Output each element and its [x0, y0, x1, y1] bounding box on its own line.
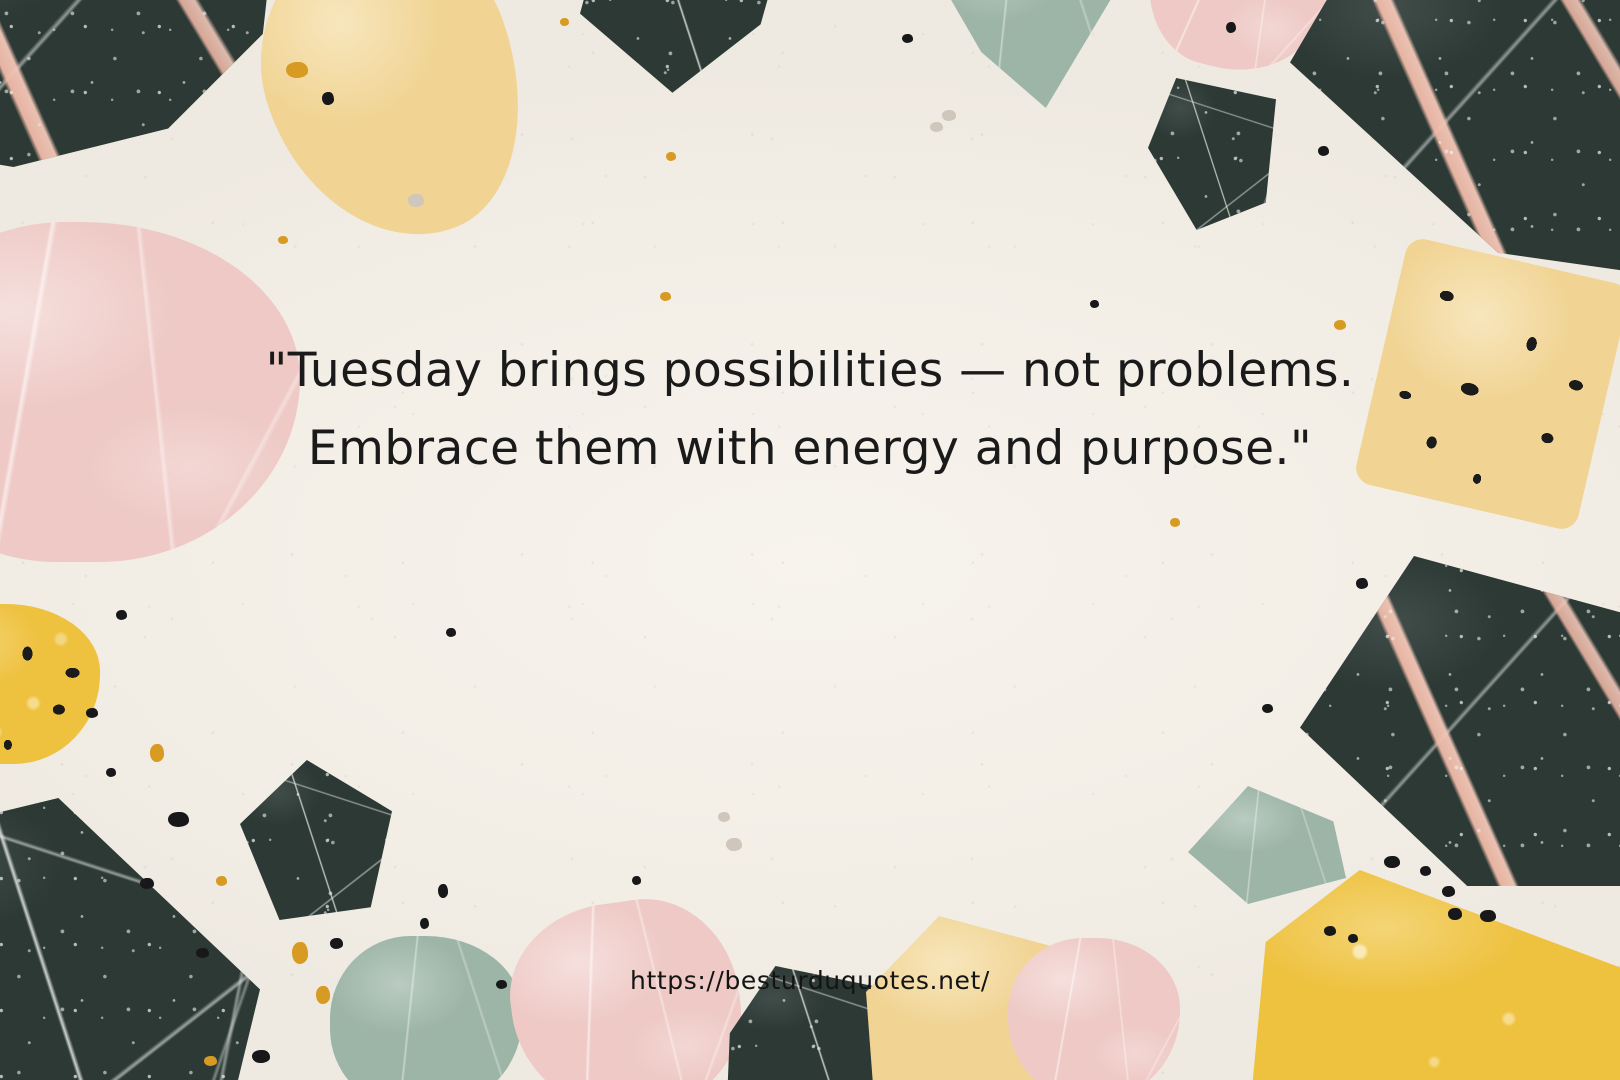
quote-line-1: "Tuesday brings possibilities — not prob…: [0, 332, 1620, 410]
watermark-url[interactable]: https://besturduquotes.net/: [0, 966, 1620, 995]
terrazzo-chip: [1420, 866, 1431, 876]
terrazzo-chip: [1384, 856, 1400, 868]
terrazzo-chip: [408, 194, 424, 207]
terrazzo-chip: [438, 884, 448, 898]
terrazzo-chip: [1448, 908, 1462, 920]
terrazzo-chip: [292, 942, 308, 964]
terrazzo-chip: [116, 610, 127, 620]
terrazzo-chip: [150, 744, 164, 762]
terrazzo-chip: [86, 708, 98, 718]
terrazzo-chip: [140, 878, 154, 889]
terrazzo-chip: [106, 768, 116, 777]
terrazzo-chip: [726, 838, 742, 851]
quote-line-2: Embrace them with energy and purpose.": [0, 410, 1620, 488]
terrazzo-chip: [1334, 320, 1346, 330]
terrazzo-chip: [666, 152, 676, 161]
terrazzo-chip: [322, 92, 334, 105]
terrazzo-chip: [1348, 934, 1358, 943]
terrazzo-chip: [446, 628, 456, 637]
terrazzo-chip: [718, 812, 730, 822]
terrazzo-chip: [330, 938, 343, 949]
terrazzo-chip: [286, 62, 308, 78]
terrazzo-chip: [1442, 886, 1455, 897]
terrazzo-chip: [420, 918, 429, 929]
quote-image-canvas: "Tuesday brings possibilities — not prob…: [0, 0, 1620, 1080]
terrazzo-chip: [1324, 926, 1336, 936]
terrazzo-chip: [204, 1056, 217, 1066]
terrazzo-chip: [1480, 910, 1496, 922]
terrazzo-chip: [1318, 146, 1329, 156]
terrazzo-chip: [1226, 22, 1236, 33]
terrazzo-chip: [1170, 518, 1180, 527]
terrazzo-chip: [902, 34, 913, 43]
terrazzo-chip: [560, 18, 569, 26]
terrazzo-chip: [1090, 300, 1099, 308]
terrazzo-chip: [930, 122, 943, 132]
decor-yellow-chip-left: [0, 604, 100, 764]
terrazzo-chip: [1262, 704, 1273, 713]
decor-sage-bottom-left: [330, 936, 522, 1080]
terrazzo-chip: [660, 292, 671, 301]
terrazzo-chip: [196, 948, 209, 958]
terrazzo-chip: [942, 110, 956, 121]
terrazzo-chip: [278, 236, 288, 244]
quote-text-block: "Tuesday brings possibilities — not prob…: [0, 332, 1620, 488]
terrazzo-chip: [168, 812, 189, 827]
terrazzo-chip: [252, 1050, 270, 1063]
terrazzo-chip: [1356, 578, 1368, 589]
decor-pink-bottom-right: [1008, 938, 1180, 1080]
terrazzo-chip: [216, 876, 227, 886]
terrazzo-chip: [632, 876, 641, 885]
